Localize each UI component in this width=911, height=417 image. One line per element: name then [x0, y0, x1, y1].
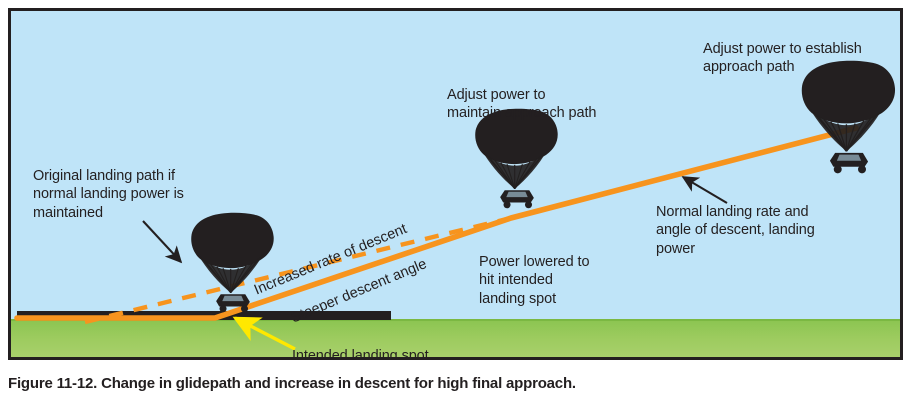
diagram-illustration: Original landing path if normal landing …	[8, 8, 903, 360]
arrow-icon	[683, 177, 727, 203]
label-adjust-power-maintain: Adjust power to maintain approach path	[447, 86, 596, 123]
powered-parachute-icon	[191, 213, 274, 313]
powered-parachute-icon	[475, 109, 558, 209]
label-adjust-power-establish: Adjust power to establish approach path	[703, 40, 862, 77]
figure-caption: Figure 11-12. Change in glidepath and in…	[8, 375, 903, 392]
figure: Original landing path if normal landing …	[0, 0, 911, 417]
label-intended-landing-spot: Intended landing spot	[292, 347, 429, 360]
powered-parachute-icon	[802, 61, 895, 174]
label-normal-landing-rate: Normal landing rate and angle of descent…	[656, 203, 815, 258]
label-power-lowered: Power lowered to hit intended landing sp…	[479, 253, 589, 308]
label-original-landing-path: Original landing path if normal landing …	[33, 167, 184, 222]
yellow-arrow-icon	[235, 318, 295, 349]
arrow-icon	[143, 221, 181, 262]
